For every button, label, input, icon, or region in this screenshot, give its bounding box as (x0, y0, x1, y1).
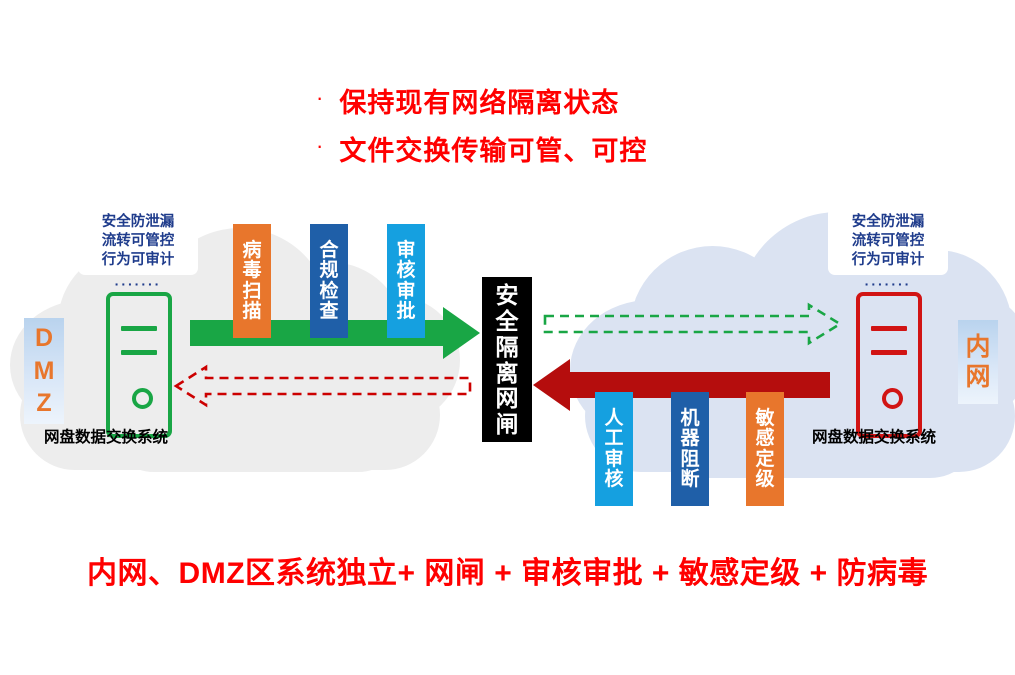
server-bar-icon (121, 326, 157, 331)
bullet-list: · 保持现有网络隔离状态 · 文件交换传输可管、可控 (316, 76, 836, 172)
intranet-callout-line-2: 流转可管控 (833, 232, 943, 251)
bullet-text-2: 文件交换传输可管、可控 (339, 129, 647, 168)
sensitive-char-1: 敏 (755, 409, 774, 429)
approval-char-1: 审 (396, 241, 415, 261)
bullet-marker-icon: · (316, 87, 323, 109)
intranet-callout: 安全防泄漏 流转可管控 行为可审计 ······· (828, 207, 948, 291)
intranet-callout-line-1: 安全防泄漏 (833, 213, 943, 232)
gateway-char-1: 安 (496, 282, 519, 308)
gateway-char-5: 网 (496, 385, 519, 411)
dmz-letter-z: Z (36, 387, 51, 420)
machine-block-char-1: 机 (680, 409, 699, 429)
dmz-callout-box: 安全防泄漏 流转可管控 行为可审计 (78, 207, 198, 275)
compliance-char-2: 规 (319, 261, 338, 281)
gateway-char-4: 离 (496, 360, 519, 386)
virus-scan-char-1: 病 (242, 241, 261, 261)
manual-review-char-4: 核 (604, 470, 623, 490)
gateway-char-3: 隔 (496, 334, 519, 360)
bullet-item-1: · 保持现有网络隔离状态 (316, 76, 836, 124)
dmz-callout-line-3: 行为可审计 (83, 251, 193, 270)
intranet-char-1: 内 (965, 332, 990, 363)
intranet-char-2: 网 (965, 362, 990, 393)
sensitive-char-2: 感 (755, 429, 774, 449)
intranet-callout-box: 安全防泄漏 流转可管控 行为可审计 (828, 207, 948, 275)
dmz-server-icon (106, 292, 172, 438)
server-power-icon (132, 388, 153, 409)
control-tag-sensitive-grading: 敏 感 定 级 (746, 392, 784, 506)
sensitive-char-3: 定 (755, 450, 774, 470)
server-power-icon (882, 388, 903, 409)
bullet-marker-icon: · (316, 135, 323, 157)
sensitive-char-4: 级 (755, 470, 774, 490)
machine-block-char-2: 器 (680, 429, 699, 449)
dmz-callout-line-1: 安全防泄漏 (83, 213, 193, 232)
virus-scan-char-2: 毒 (242, 261, 261, 281)
manual-review-char-2: 工 (604, 429, 623, 449)
gateway-char-2: 全 (496, 308, 519, 334)
server-bar-icon (871, 326, 907, 331)
machine-block-char-4: 断 (680, 470, 699, 490)
dmz-letter-m: M (34, 355, 55, 388)
intranet-server-caption: 网盘数据交换系统 (812, 425, 936, 447)
intranet-zone-label: 内 网 (958, 320, 998, 404)
gateway-char-6: 闸 (496, 411, 519, 437)
control-tag-compliance-check: 合 规 检 查 (310, 224, 348, 338)
control-tag-machine-block: 机 器 阻 断 (671, 392, 709, 506)
security-gateway-box: 安 全 隔 离 网 闸 (482, 277, 532, 442)
server-bar-icon (121, 350, 157, 355)
intranet-server-icon (856, 292, 922, 438)
control-tag-virus-scan: 病 毒 扫 描 (233, 224, 271, 338)
approval-char-3: 审 (396, 282, 415, 302)
dmz-callout-tail-dots-icon: ······· (78, 277, 198, 291)
intranet-callout-line-3: 行为可审计 (833, 251, 943, 270)
compliance-char-4: 查 (319, 302, 338, 322)
compliance-char-1: 合 (319, 241, 338, 261)
bullet-text-1: 保持现有网络隔离状态 (339, 81, 619, 120)
diagram-canvas: · 保持现有网络隔离状态 · 文件交换传输可管、可控 D M Z 内 网 (0, 0, 1015, 675)
manual-review-char-1: 人 (604, 409, 623, 429)
dmz-zone-label: D M Z (24, 318, 64, 424)
approval-char-4: 批 (396, 302, 415, 322)
approval-char-2: 核 (396, 261, 415, 281)
summary-footer-text: 内网、DMZ区系统独立+ 网闸 + 审核审批 + 敏感定级 + 防病毒 (0, 548, 1015, 592)
manual-review-char-3: 审 (604, 450, 623, 470)
machine-block-char-3: 阻 (680, 450, 699, 470)
dmz-server-caption: 网盘数据交换系统 (44, 425, 168, 447)
dmz-letter-d: D (35, 322, 53, 355)
intranet-callout-tail-dots-icon: ······· (828, 277, 948, 291)
dmz-callout-line-2: 流转可管控 (83, 232, 193, 251)
dmz-callout: 安全防泄漏 流转可管控 行为可审计 ······· (78, 207, 198, 291)
virus-scan-char-4: 描 (242, 302, 261, 322)
control-tag-review-approval: 审 核 审 批 (387, 224, 425, 338)
virus-scan-char-3: 扫 (242, 282, 261, 302)
compliance-char-3: 检 (319, 282, 338, 302)
server-bar-icon (871, 350, 907, 355)
bullet-item-2: · 文件交换传输可管、可控 (316, 124, 836, 172)
control-tag-manual-review: 人 工 审 核 (595, 392, 633, 506)
